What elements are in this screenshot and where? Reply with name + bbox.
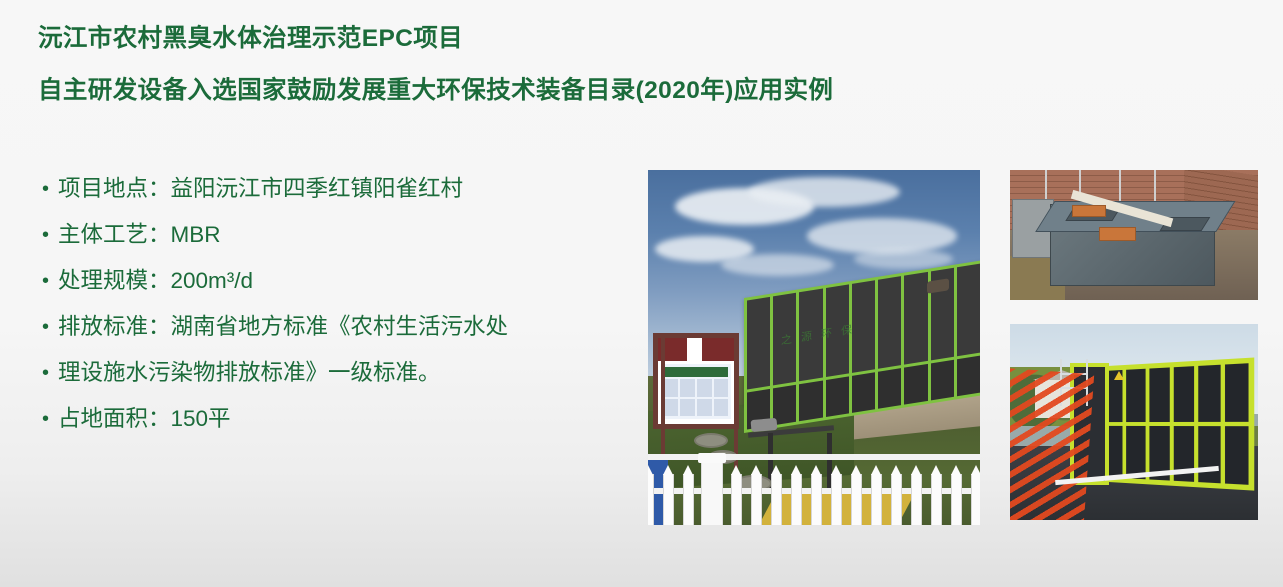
bullet-icon: • [42, 356, 58, 390]
bullet-icon: • [42, 402, 58, 436]
list-item: • 项目地点：益阳沅江市四季红镇阳雀红村 [42, 172, 652, 218]
cloud-shape [807, 218, 956, 253]
warning-triangle-icon [1114, 371, 1124, 380]
list-item-label: 占地面积：150平 [58, 402, 231, 436]
list-item-label: 处理规模：200m³/d [58, 264, 253, 298]
signboard-panels [664, 379, 729, 415]
signboard-poster [661, 364, 731, 419]
list-item: • 排放标准：湖南省地方标准《农村生活污水处 [42, 310, 652, 356]
list-item: • 占地面积：150平 [42, 402, 652, 448]
cardboard-box [1099, 227, 1136, 241]
list-item-label: 理设施水污染物排放标准》一级标准。 [58, 356, 441, 390]
picket-fence [648, 436, 980, 525]
bullet-icon: • [42, 310, 58, 344]
list-item: • 理设施水污染物排放标准》一级标准。 [42, 356, 652, 402]
photo-construction-tank [1010, 170, 1258, 300]
list-item: • 处理规模：200m³/d [42, 264, 652, 310]
slide-root: 沅江市农村黑臭水体治理示范EPC项目 自主研发设备入选国家鼓励发展重大环保技术装… [0, 0, 1283, 587]
photo-main-facility: 之源环保 [648, 170, 980, 525]
valve-fitting [750, 417, 777, 431]
cloud-shape [854, 249, 954, 269]
orange-safety-chain [1010, 368, 1095, 520]
list-item-label: 排放标准：湖南省地方标准《农村生活污水处 [58, 310, 508, 344]
photo-completed-facility [1010, 324, 1258, 520]
cloud-shape [748, 177, 901, 208]
bullet-icon: • [42, 172, 58, 206]
cloud-shape [721, 254, 834, 276]
bullet-icon: • [42, 264, 58, 298]
page-title-line-2: 自主研发设备入选国家鼓励发展重大环保技术装备目录(2020年)应用实例 [38, 74, 1118, 108]
project-signboard [653, 333, 739, 429]
project-info-list: • 项目地点：益阳沅江市四季红镇阳雀红村 • 主体工艺：MBR • 处理规模：2… [42, 172, 652, 448]
page-title-line-1: 沅江市农村黑臭水体治理示范EPC项目 [38, 22, 1118, 56]
list-item: • 主体工艺：MBR [42, 218, 652, 264]
cardboard-box [1072, 205, 1106, 217]
title-block: 沅江市农村黑臭水体治理示范EPC项目 自主研发设备入选国家鼓励发展重大环保技术装… [38, 22, 1118, 108]
list-item-label: 项目地点：益阳沅江市四季红镇阳雀红村 [58, 172, 463, 206]
list-item-label: 主体工艺：MBR [58, 218, 221, 252]
bullet-icon: • [42, 218, 58, 252]
